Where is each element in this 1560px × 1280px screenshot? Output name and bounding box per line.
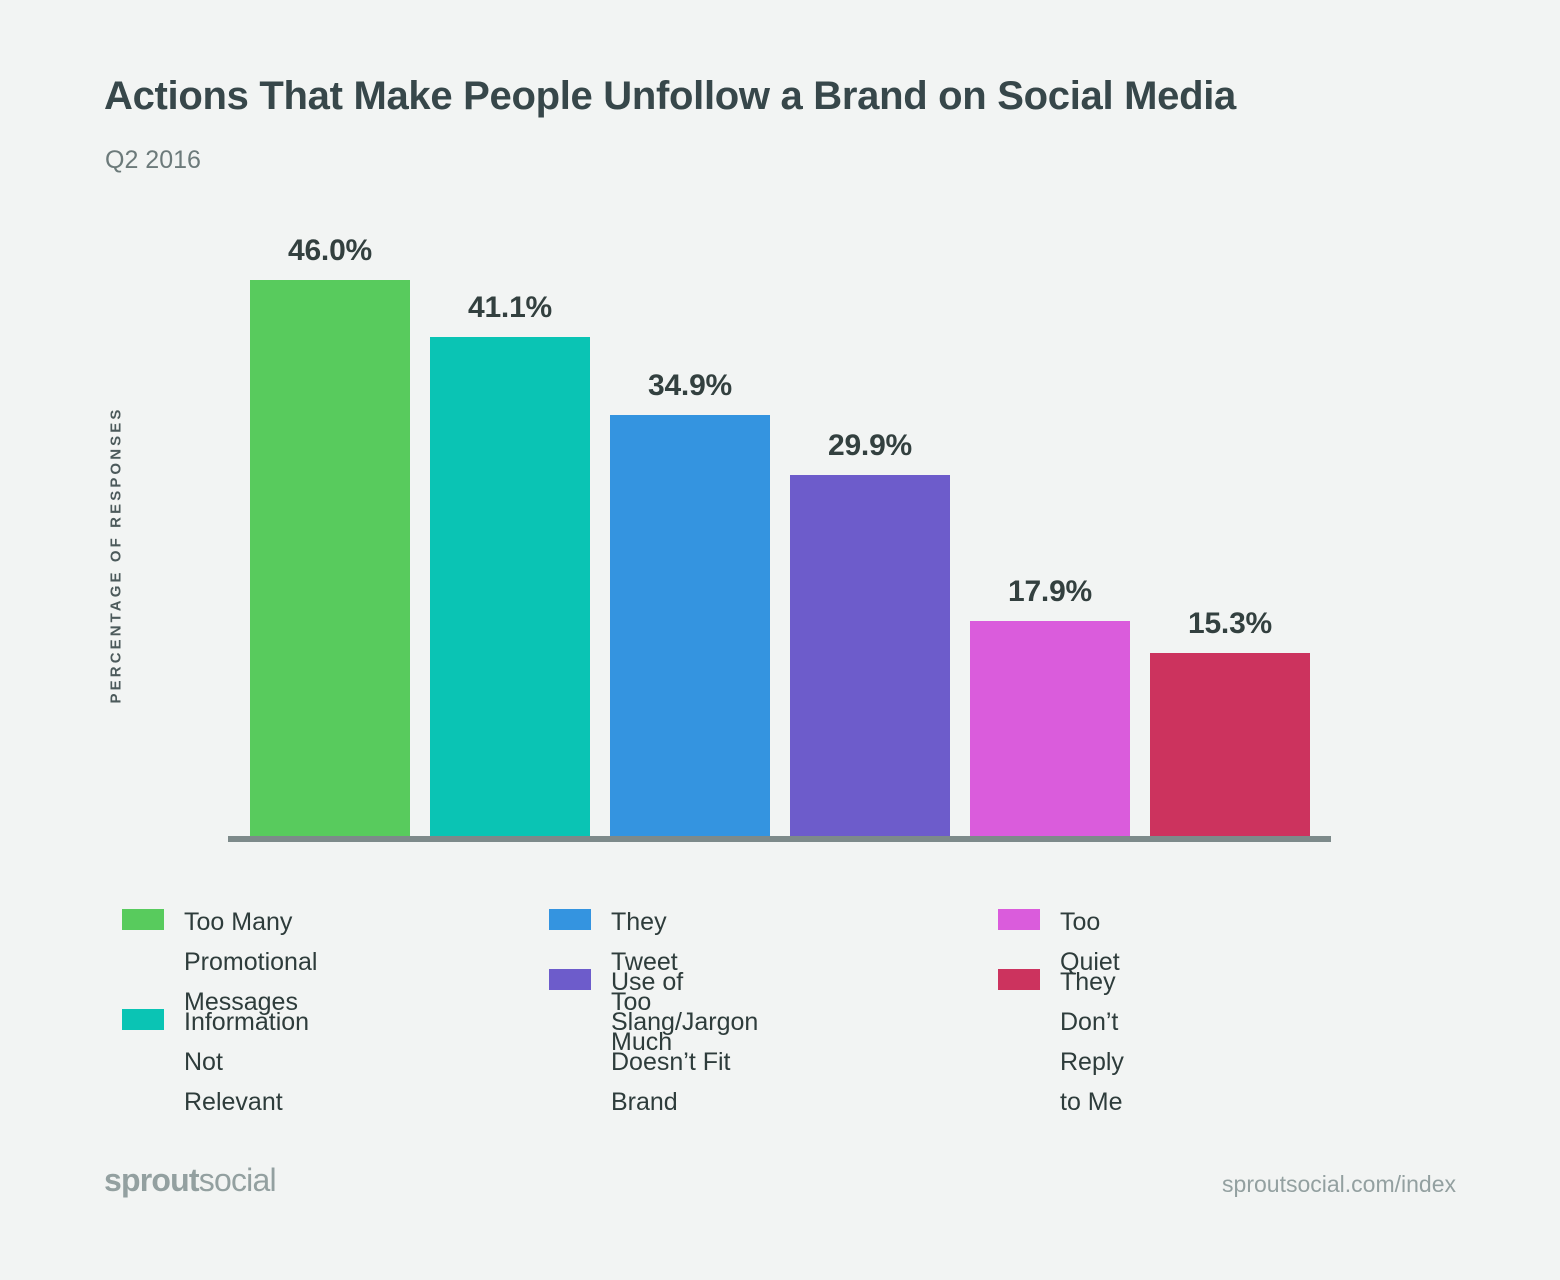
bar-group: 46.0% bbox=[250, 280, 410, 836]
bar-value-label: 41.1% bbox=[468, 291, 552, 325]
logo-light-text: social bbox=[199, 1162, 276, 1198]
legend-item[interactable]: They Don’t Reply to Me bbox=[998, 962, 1124, 1122]
legend-color-swatch bbox=[122, 909, 164, 930]
bar-value-label: 29.9% bbox=[828, 429, 912, 463]
bar bbox=[970, 621, 1130, 836]
bar-value-label: 46.0% bbox=[288, 234, 372, 268]
chart-plot-area: PERCENTAGE OF RESPONSES 46.0%41.1%34.9%2… bbox=[0, 0, 1560, 880]
footer-url: sproutsocial.com/index bbox=[1222, 1171, 1456, 1198]
logo-bold-text: sprout bbox=[104, 1162, 199, 1198]
sproutsocial-logo: sproutsocial bbox=[104, 1162, 276, 1199]
chart-legend: Too Many Promotional MessagesInformation… bbox=[0, 885, 1560, 1055]
bar-value-label: 15.3% bbox=[1188, 607, 1272, 641]
legend-color-swatch bbox=[998, 909, 1040, 930]
bar-group: 17.9% bbox=[970, 621, 1130, 836]
legend-item[interactable]: Information Not Relevant bbox=[122, 1002, 309, 1122]
legend-color-swatch bbox=[549, 909, 591, 930]
bar-group: 41.1% bbox=[430, 337, 590, 836]
bar bbox=[430, 337, 590, 836]
legend-item-label: They Don’t Reply to Me bbox=[1060, 962, 1124, 1122]
bar-group: 15.3% bbox=[1150, 653, 1310, 836]
legend-color-swatch bbox=[998, 969, 1040, 990]
legend-color-swatch bbox=[122, 1009, 164, 1030]
bar bbox=[610, 415, 770, 836]
legend-item-label: Use of Slang/Jargon Doesn’t Fit Brand bbox=[611, 962, 758, 1122]
bar-group: 34.9% bbox=[610, 415, 770, 836]
bar-value-label: 34.9% bbox=[648, 369, 732, 403]
bar-group: 29.9% bbox=[790, 475, 950, 836]
bar-value-label: 17.9% bbox=[1008, 575, 1092, 609]
bar bbox=[790, 475, 950, 836]
y-axis-title: PERCENTAGE OF RESPONSES bbox=[96, 330, 136, 780]
bar bbox=[250, 280, 410, 836]
legend-item-label: Information Not Relevant bbox=[184, 1002, 309, 1122]
legend-item[interactable]: Use of Slang/Jargon Doesn’t Fit Brand bbox=[549, 962, 758, 1122]
bar bbox=[1150, 653, 1310, 836]
y-axis-title-text: PERCENTAGE OF RESPONSES bbox=[108, 407, 125, 704]
x-axis-line bbox=[228, 836, 1331, 842]
legend-color-swatch bbox=[549, 969, 591, 990]
